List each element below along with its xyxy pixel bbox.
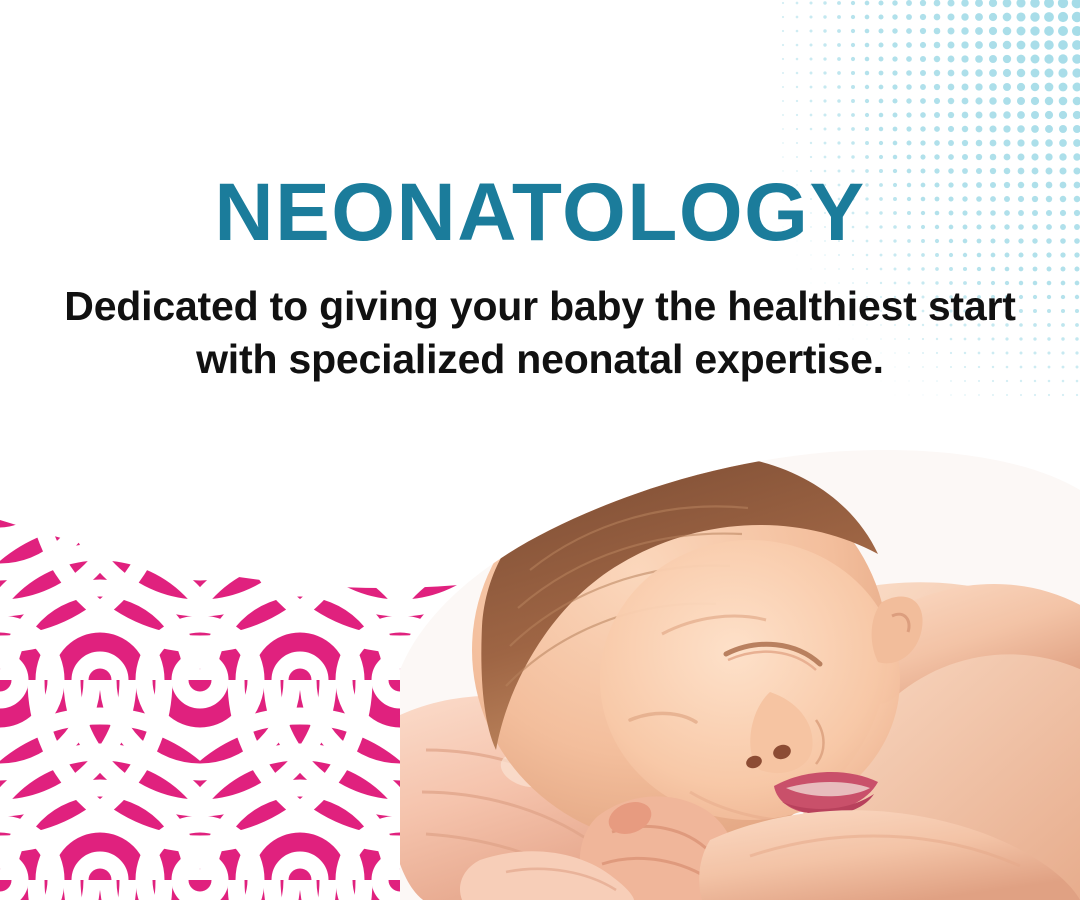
subtitle-line-2: with specialized neonatal expertise. — [196, 336, 884, 382]
headline-block: NEONATOLOGY Dedicated to giving your bab… — [0, 0, 1080, 387]
poster-canvas: NEONATOLOGY Dedicated to giving your bab… — [0, 0, 1080, 900]
page-title: NEONATOLOGY — [0, 172, 1080, 254]
page-subtitle: Dedicated to giving your baby the health… — [0, 280, 1080, 387]
subtitle-line-1: Dedicated to giving your baby the health… — [64, 283, 1015, 329]
sleeping-newborn-in-hands-photo — [330, 420, 1080, 900]
